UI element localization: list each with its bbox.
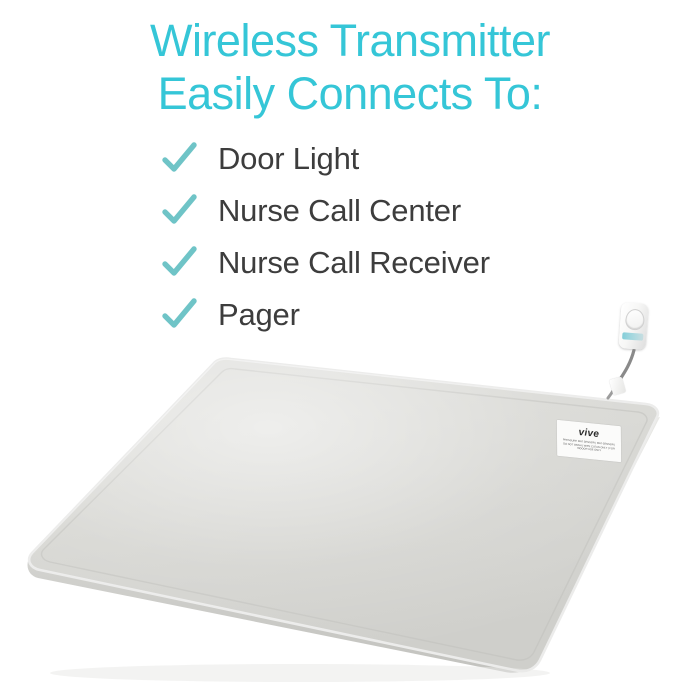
mat-shadow [50, 664, 550, 682]
page-title: Wireless Transmitter Easily Connects To: [0, 14, 700, 120]
check-icon [160, 140, 200, 176]
list-item: Door Light [160, 133, 630, 185]
product-image: vive PRESSURE MAT SENSOR | MAT-SENSOR | … [0, 280, 700, 700]
list-item-label: Nurse Call Center [200, 194, 461, 228]
list-item-label: Nurse Call Receiver [200, 246, 490, 280]
wireless-transmitter[interactable] [618, 302, 648, 350]
pressure-mat-illustration [0, 280, 700, 700]
mat-brand-label: vive PRESSURE MAT SENSOR | MAT-SENSOR | … [557, 420, 621, 462]
page-title-line-1: Wireless Transmitter [0, 14, 700, 67]
transmitter-logo [622, 332, 643, 340]
check-icon [160, 192, 200, 228]
product-infographic: Wireless Transmitter Easily Connects To:… [0, 0, 700, 700]
transmitter-button[interactable] [625, 308, 645, 330]
check-icon [160, 244, 200, 280]
list-item: Nurse Call Center [160, 185, 630, 237]
label-fineprint: PRESSURE MAT SENSOR | MAT-SENSOR | DO NO… [561, 438, 617, 459]
mat-highlight [29, 359, 658, 672]
page-title-line-2: Easily Connects To: [0, 67, 700, 120]
list-item-label: Door Light [200, 142, 359, 176]
